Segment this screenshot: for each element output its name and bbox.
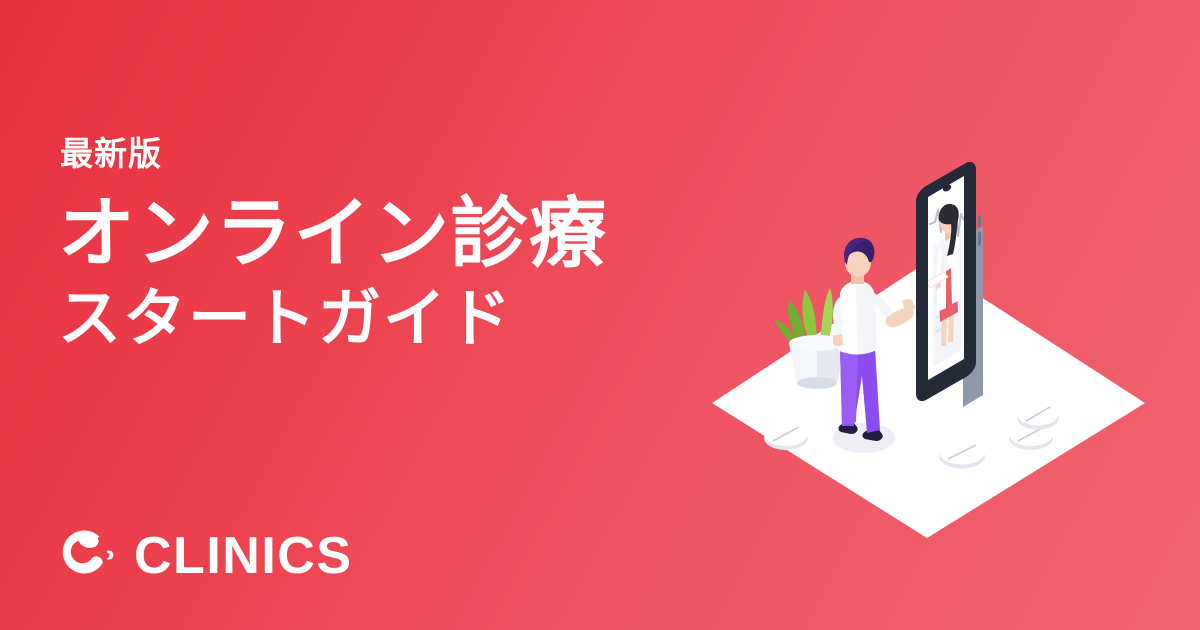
smartphone [916, 162, 983, 407]
page-subtitle: スタートガイド [58, 284, 698, 355]
pill-item [764, 422, 808, 450]
hero-illustration [690, 150, 1160, 550]
clinics-wordmark: CLINICS [134, 530, 353, 582]
eyebrow-label: 最新版 [60, 136, 698, 172]
promo-banner: 最新版 オンライン診療 スタートガイド CLINICS [0, 0, 1200, 630]
pill-item [939, 440, 985, 469]
clinics-c-mark-icon [58, 524, 116, 587]
pill-item [1017, 403, 1059, 430]
phone-button [978, 231, 981, 247]
headline-block: 最新版 オンライン診療 スタートガイド [58, 136, 698, 354]
page-title: オンライン診療 [58, 194, 698, 276]
clinics-logo[interactable]: CLINICS [58, 524, 353, 587]
phone-button [978, 215, 981, 228]
